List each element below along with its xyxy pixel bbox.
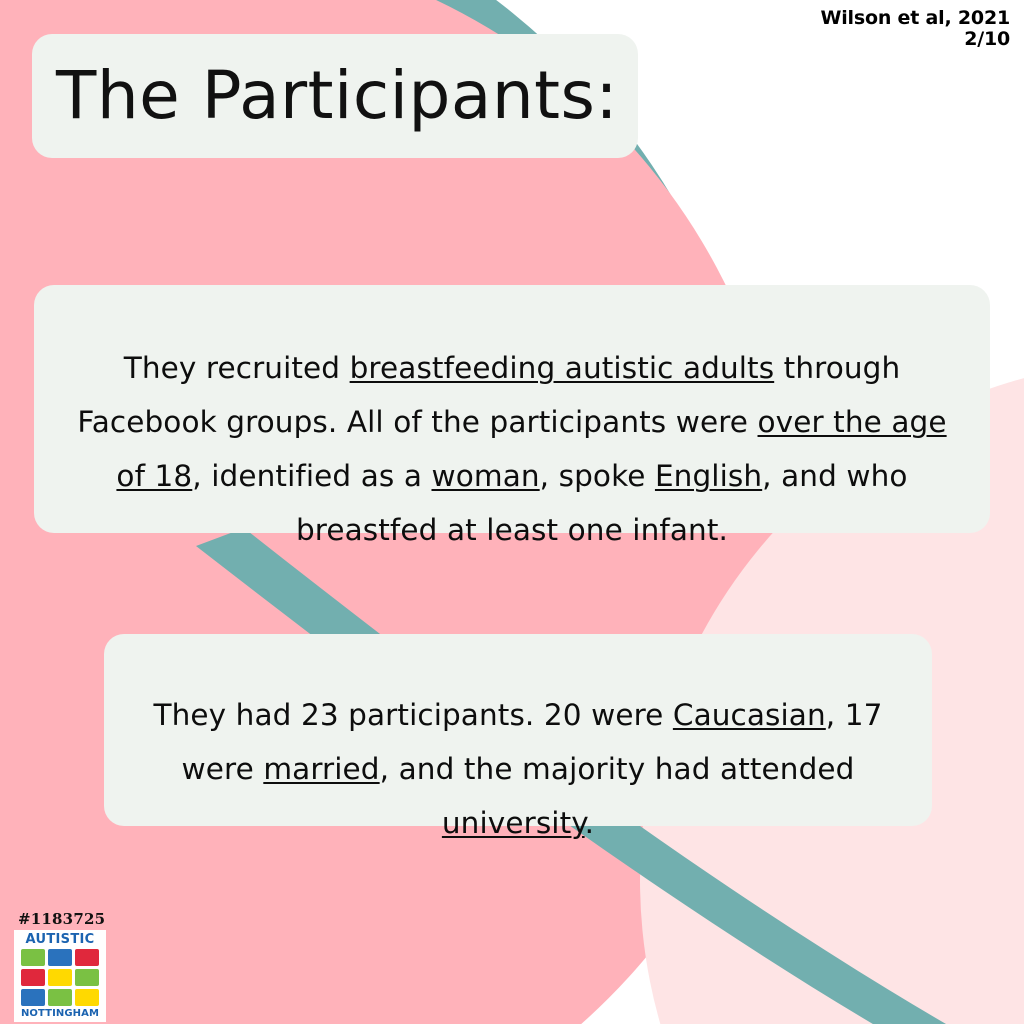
autistic-nottingham-logo: AUTISTIC NOTTINGHAM: [14, 930, 106, 1022]
logo-grid-cell: [21, 989, 45, 1006]
title-card: The Participants:: [32, 34, 638, 158]
logo-grid-cell: [75, 989, 99, 1006]
slide-canvas: Wilson et al, 2021 2/10 The Participants…: [0, 0, 1024, 1024]
logo-grid-cell: [48, 989, 72, 1006]
page-number: 2/10: [820, 29, 1010, 50]
logo-color-grid: [21, 949, 99, 1006]
charity-number: #1183725: [14, 910, 118, 928]
logo-grid-cell: [21, 969, 45, 986]
logo-word-top: AUTISTIC: [26, 933, 95, 946]
participants-recruitment-text: They recruited breastfeeding autistic ad…: [60, 341, 964, 557]
logo-grid-cell: [48, 969, 72, 986]
citation-block: Wilson et al, 2021 2/10: [820, 8, 1010, 51]
participants-demographics-card: They had 23 participants. 20 were Caucas…: [104, 634, 932, 826]
logo-grid-cell: [21, 949, 45, 966]
logo-word-bottom: NOTTINGHAM: [21, 1009, 99, 1019]
participants-demographics-text: They had 23 participants. 20 were Caucas…: [130, 688, 906, 850]
participants-recruitment-card: They recruited breastfeeding autistic ad…: [34, 285, 990, 533]
logo-grid-cell: [75, 969, 99, 986]
logo-grid-cell: [75, 949, 99, 966]
page-title: The Participants:: [56, 63, 618, 129]
logo-grid-cell: [48, 949, 72, 966]
brand-logo-block: #1183725 AUTISTIC NOTTINGHAM: [14, 910, 118, 1022]
citation-text: Wilson et al, 2021: [820, 8, 1010, 29]
